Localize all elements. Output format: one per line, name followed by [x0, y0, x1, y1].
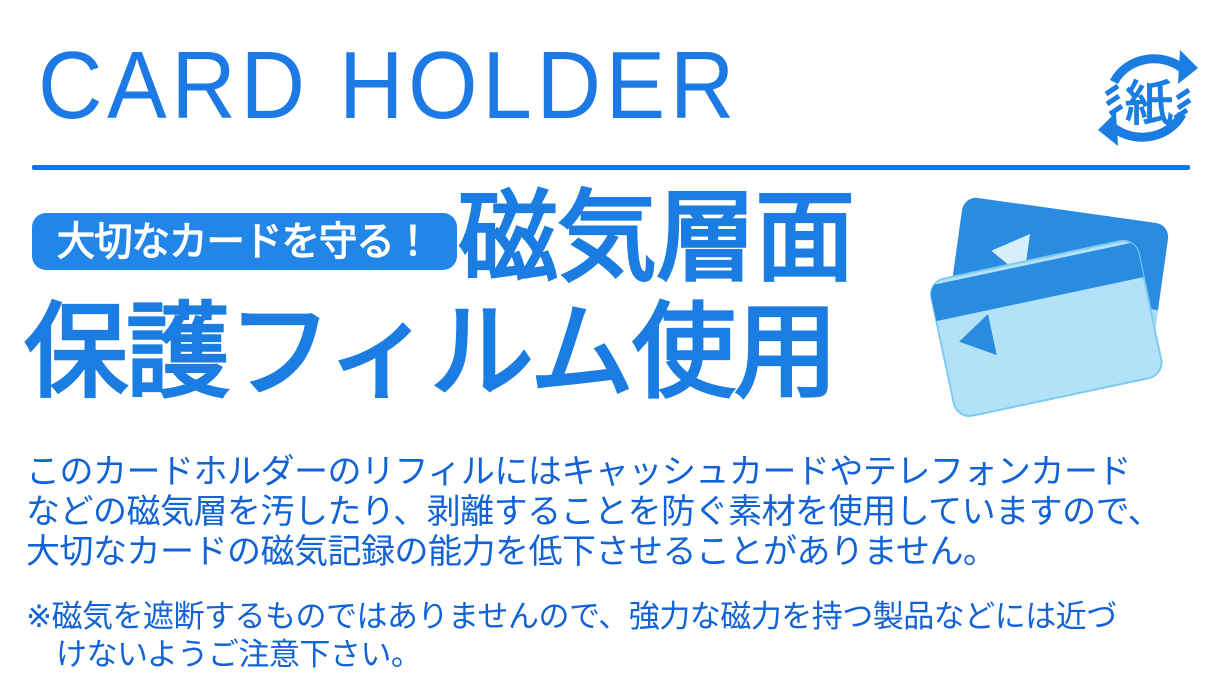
header: CARD HOLDER 紙	[0, 0, 1222, 168]
recycle-mark-kanji: 紙	[1125, 76, 1173, 132]
caution-note: ※磁気を遮断するものではありませんので、強力な磁力を持つ製品などには近づ けない…	[26, 598, 1222, 674]
description-paragraph: このカードホルダーのリフィルにはキャッシュカードやテレフォンカード などの磁気層…	[26, 452, 1216, 572]
card-holder-package-panel: CARD HOLDER 紙	[0, 0, 1222, 692]
tagline-badge-label: 大切なカードを守る！	[57, 222, 431, 262]
note-line: けないようご注意下さい。	[26, 636, 1222, 674]
header-divider	[32, 165, 1190, 170]
description-line: などの磁気層を汚したり、剥離することを防ぐ素材を使用していますので、	[26, 492, 1216, 532]
magnetic-stripe-cards-illustration	[916, 190, 1208, 434]
headline-line-1: 磁気層面	[458, 188, 854, 288]
tagline-badge: 大切なカードを守る！	[32, 213, 457, 270]
note-line: ※磁気を遮断するものではありませんので、強力な磁力を持つ製品などには近づ	[26, 598, 1222, 636]
page-title: CARD HOLDER	[38, 38, 739, 134]
description-line: 大切なカードの磁気記録の能力を低下させることがありません。	[26, 532, 1216, 572]
headline-line-2: 保護フィルム使用	[24, 300, 836, 404]
paper-recycle-icon: 紙	[1094, 42, 1202, 154]
description-line: このカードホルダーのリフィルにはキャッシュカードやテレフォンカード	[26, 452, 1216, 492]
